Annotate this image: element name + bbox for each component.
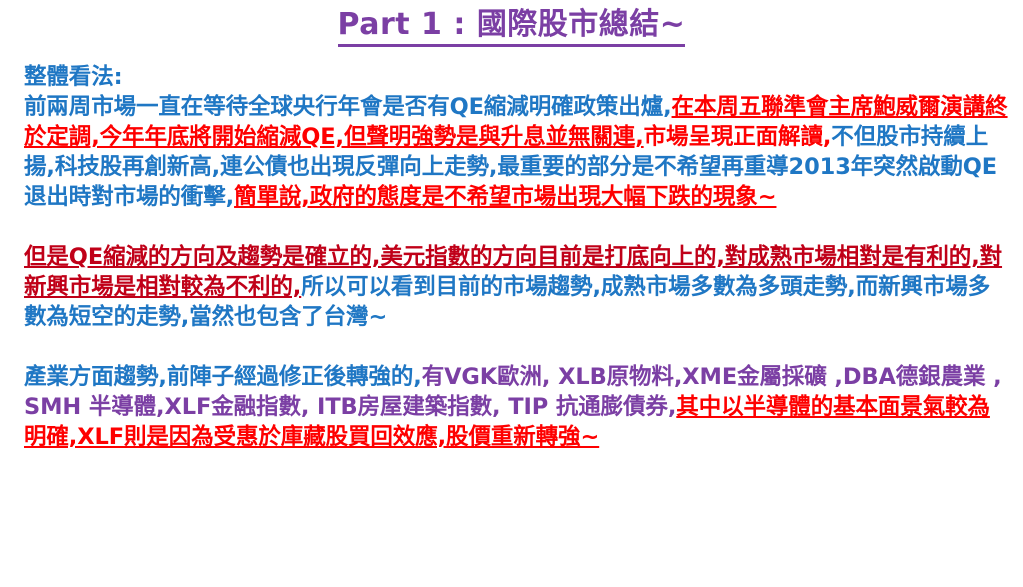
run-overall-intro: 前兩周市場一直在等待全球央行年會是否有QE縮減明確政策出爐, — [24, 94, 672, 120]
run-overall-highlight-3: 簡單說,政府的態度是不希望市場出現大幅下跌的現象~ — [234, 184, 776, 210]
run-overall-highlight-2: 市場呈現正面解讀, — [644, 124, 832, 150]
run-overall-label: 整體看法: — [24, 64, 123, 90]
run-sector-intro: 產業方面趨勢,前陣子經過修正後轉強的, — [24, 364, 422, 390]
paragraph-sector-trend: 產業方面趨勢,前陣子經過修正後轉強的,有VGK歐洲, XLB原物料,XME金屬採… — [24, 362, 1009, 452]
paragraph-overall-view: 整體看法: 前兩周市場一直在等待全球央行年會是否有QE縮減明確政策出爐,在本周五… — [24, 62, 1009, 212]
title-row: Part 1 : 國際股市總結~ — [0, 8, 1023, 47]
slide-canvas: Part 1 : 國際股市總結~ 整體看法: 前兩周市場一直在等待全球央行年會是… — [0, 0, 1023, 587]
page-title: Part 1 : 國際股市總結~ — [338, 8, 686, 47]
paragraph-qe-trend: 但是QE縮減的方向及趨勢是確立的,美元指數的方向目前是打底向上的,對成熟市場相對… — [24, 242, 1009, 332]
body-content: 整體看法: 前兩周市場一直在等待全球央行年會是否有QE縮減明確政策出爐,在本周五… — [24, 62, 1009, 452]
